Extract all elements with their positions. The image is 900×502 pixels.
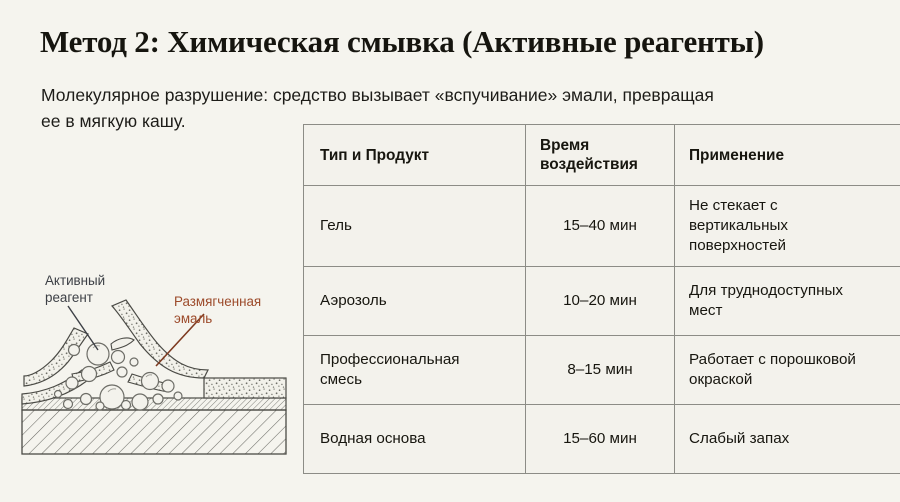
column-header-time: Время воздействия: [526, 125, 675, 186]
cell-use: Работает с порошковой окраской: [675, 336, 900, 405]
cell-type-line-2: смесь: [320, 370, 525, 390]
cell-time: 15–60 мин: [526, 405, 675, 474]
cell-use: Не стекает с вертикальных поверхностей: [675, 186, 900, 267]
label-active-reagent: Активный реагент: [45, 272, 105, 306]
cell-use-line-2: мест: [689, 301, 900, 321]
cell-use-line-2: вертикальных: [689, 216, 900, 236]
label-active-reagent-line-1: Активный: [45, 272, 105, 289]
cell-use-line-1: Работает с порошковой: [689, 350, 900, 370]
cell-use: Слабый запах: [675, 405, 900, 474]
table-row: Профессиональная смесь 8–15 мин Работает…: [304, 336, 900, 405]
cell-type: Гель: [304, 186, 526, 267]
label-softened-enamel: Размягченная эмаль: [174, 293, 261, 327]
spec-table: Тип и Продукт Время воздействия Применен…: [303, 124, 900, 474]
column-header-time-line-1: Время: [540, 136, 668, 155]
cell-use-line-1: Для труднодоступных: [689, 281, 900, 301]
cell-type-line-1: Профессиональная: [320, 350, 525, 370]
column-header-time-line-2: воздействия: [540, 155, 668, 174]
table-row: Гель 15–40 мин Не стекает с вертикальных…: [304, 186, 900, 267]
cell-use-line-3: поверхностей: [689, 236, 900, 256]
slide-canvas: Метод 2: Химическая смывка (Активные реа…: [0, 0, 900, 502]
spec-table-wrapper: Тип и Продукт Время воздействия Применен…: [303, 124, 869, 474]
cell-time: 8–15 мин: [526, 336, 675, 405]
label-softened-enamel-line-2: эмаль: [174, 310, 261, 327]
column-header-use: Применение: [675, 125, 900, 186]
label-softened-enamel-line-1: Размягченная: [174, 293, 261, 310]
cell-type: Профессиональная смесь: [304, 336, 526, 405]
metal-substrate-layer: [22, 410, 286, 454]
page-title: Метод 2: Химическая смывка (Активные реа…: [40, 24, 880, 60]
label-active-reagent-line-2: реагент: [45, 289, 105, 306]
cell-use-line-1: Не стекает с: [689, 196, 900, 216]
cell-use: Для труднодоступных мест: [675, 267, 900, 336]
column-header-type: Тип и Продукт: [304, 125, 526, 186]
cell-type: Водная основа: [304, 405, 526, 474]
cell-time: 15–40 мин: [526, 186, 675, 267]
table-row: Водная основа 15–60 мин Слабый запах: [304, 405, 900, 474]
subtitle-line-1: Молекулярное разрушение: средство вызыва…: [41, 85, 714, 105]
table-row: Аэрозоль 10–20 мин Для труднодоступных м…: [304, 267, 900, 336]
table-header-row: Тип и Продукт Время воздействия Применен…: [304, 125, 900, 186]
cell-type: Аэрозоль: [304, 267, 526, 336]
cell-use-line-2: окраской: [689, 370, 900, 390]
cell-time: 10–20 мин: [526, 267, 675, 336]
intact-enamel-right: [204, 378, 286, 398]
